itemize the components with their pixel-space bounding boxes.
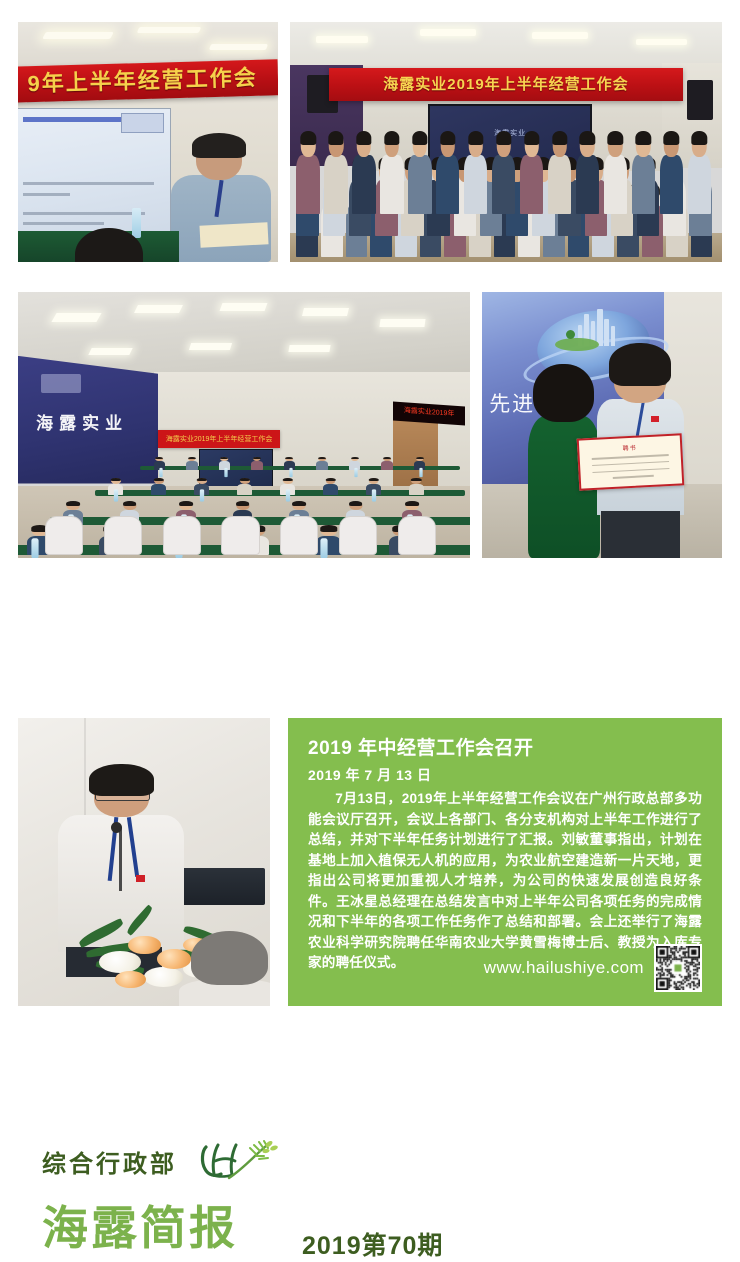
article-date: 2019 年 7 月 13 日 (308, 765, 702, 785)
projection-screen (18, 108, 171, 244)
website-link[interactable]: www.hailushiye.com (484, 958, 644, 978)
department-label: 综合行政部 (42, 1144, 177, 1179)
photo-hall: 海露实业 海露实业2019年上半年经营工作会 海露实业2019年 (18, 292, 470, 558)
issue-number: 2019第70期 (302, 1226, 443, 1262)
article-title: 2019 年中经营工作会召开 (308, 736, 702, 762)
photo-speaker-banner: 9年上半年经营工作会 (18, 22, 278, 262)
certificate: 聘书 (577, 433, 684, 490)
qr-code-icon[interactable] (654, 944, 702, 992)
article-panel: 2019 年中经营工作会召开 2019 年 7 月 13 日 7月13日，201… (288, 718, 722, 1006)
photo-podium (18, 718, 270, 1006)
banner-text: 海露实业2019年上半年经营工作会 (158, 431, 280, 447)
photo-award: 先进 聘书 (482, 292, 722, 558)
banner-text: 海露实业2019年上半年经营工作会 (329, 69, 683, 100)
photo-group: 海露实业 海露实业2019年上半年经营工作会 (290, 22, 722, 262)
lh-logo-icon (196, 1138, 292, 1184)
page-title: 海露简报 (42, 1198, 238, 1258)
article-footer: www.hailushiye.com (484, 944, 702, 992)
masthead: 综合行政部 海露简报 (0, 566, 740, 706)
wall-text: 海露实业 (36, 409, 154, 434)
certificate-title: 聘书 (579, 440, 680, 454)
newsletter-page: 9年上半年经营工作会 (0, 0, 740, 1047)
